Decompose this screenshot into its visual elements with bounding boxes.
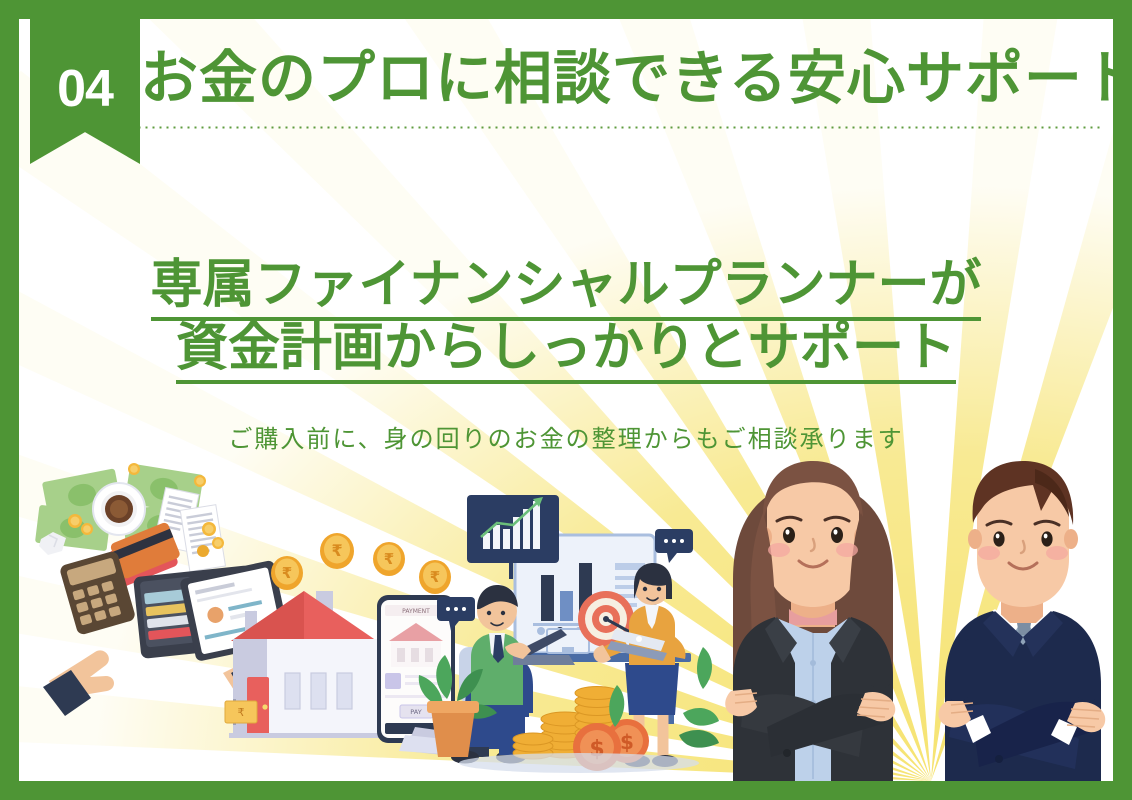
svg-text:₹: ₹: [384, 550, 394, 568]
header-dotted-divider: [31, 126, 1101, 129]
svg-text:$: $: [620, 730, 634, 754]
hand-pointing-icon: [43, 650, 114, 716]
business-analytics-team-icon: $ $: [419, 495, 719, 773]
svg-text:₹: ₹: [238, 706, 245, 719]
section-number-ribbon: 04: [30, 19, 140, 164]
svg-text:₹: ₹: [282, 564, 292, 582]
page-title: お金のプロに相談できる安心サポート: [140, 49, 1113, 107]
male-financial-planner-icon: [938, 461, 1105, 781]
phone-pay-button-label: PAY: [410, 708, 421, 716]
section-number: 04: [57, 63, 113, 115]
svg-text:₹: ₹: [430, 568, 440, 586]
subheadline: ご購入前に、身の回りのお金の整理からもご相談承ります: [19, 419, 1113, 454]
speech-bubble-icon: [655, 529, 693, 563]
slide-root: 04 お金のプロに相談できる安心サポート 専属ファイナンシャルプランナーが 資金…: [0, 0, 1132, 800]
phone-payment-label: PAYMENT: [402, 608, 430, 615]
female-financial-planner-icon: [725, 461, 895, 781]
illustration-scene: ₹ ₹ ₹: [19, 451, 1113, 781]
slide-card: 04 お金のプロに相談できる安心サポート 専属ファイナンシャルプランナーが 資金…: [19, 19, 1113, 781]
header: 04 お金のプロに相談できる安心サポート: [19, 19, 1113, 169]
house-icon: ₹: [225, 591, 381, 738]
rupee-coin-icon: ₹ ₹ ₹: [271, 533, 451, 594]
svg-text:₹: ₹: [331, 541, 342, 560]
illustration-strip: ₹ ₹ ₹: [19, 451, 1113, 781]
